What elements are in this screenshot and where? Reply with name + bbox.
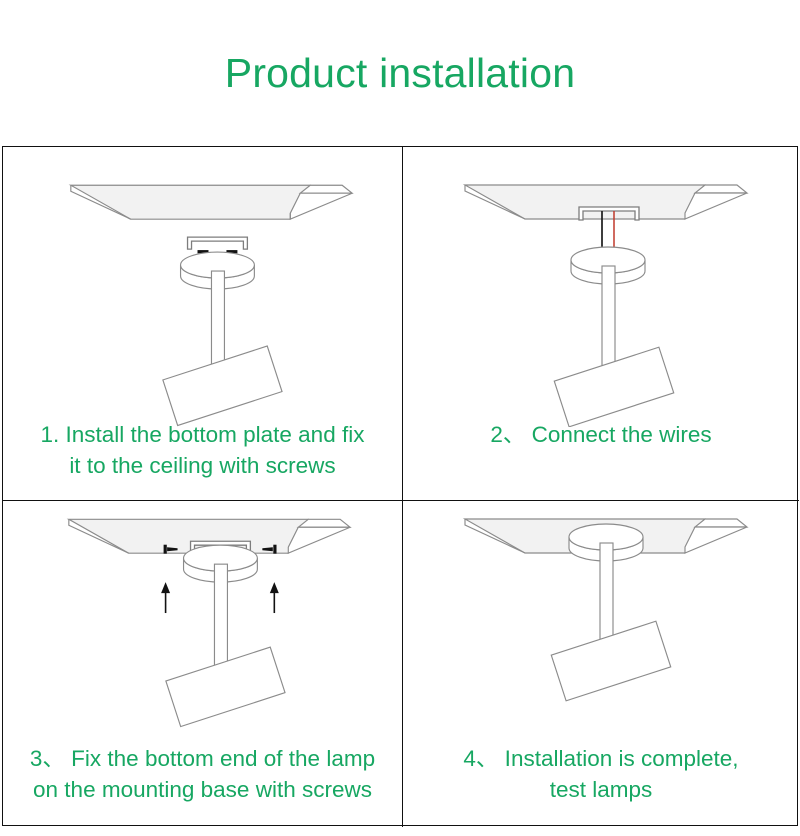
step-3-caption: 3、 Fix the bottom end of the lamp on the…: [3, 743, 402, 805]
ceiling-slab: [465, 185, 747, 219]
step-4-cell: 4、 Installation is complete, test lamps: [403, 501, 799, 827]
stem: [600, 543, 613, 649]
page-title: Product installation: [0, 0, 800, 146]
step-3-diagram: [3, 501, 402, 751]
step-2-diagram: [403, 147, 799, 427]
step-4-caption: 4、 Installation is complete, test lamps: [403, 743, 799, 805]
up-arrow-right: [270, 582, 279, 613]
up-arrow-left: [161, 582, 170, 613]
stem: [211, 271, 224, 375]
step-4-diagram: [403, 501, 799, 751]
step-2-cell: 2、 Connect the wires: [403, 147, 799, 501]
step-1-cell: 1. Install the bottom plate and fix it t…: [3, 147, 403, 501]
ceiling-slab: [71, 185, 352, 219]
stem: [602, 266, 615, 376]
installation-steps-grid: 1. Install the bottom plate and fix it t…: [2, 146, 798, 826]
step-1-diagram: [3, 147, 402, 427]
step-3-cell: 3、 Fix the bottom end of the lamp on the…: [3, 501, 403, 827]
product-installation-page: Product installation: [0, 0, 800, 836]
step-2-caption: 2、 Connect the wires: [403, 419, 799, 450]
stem: [214, 564, 227, 676]
mounting-bracket: [188, 237, 248, 249]
step-1-caption: 1. Install the bottom plate and fix it t…: [3, 419, 402, 481]
